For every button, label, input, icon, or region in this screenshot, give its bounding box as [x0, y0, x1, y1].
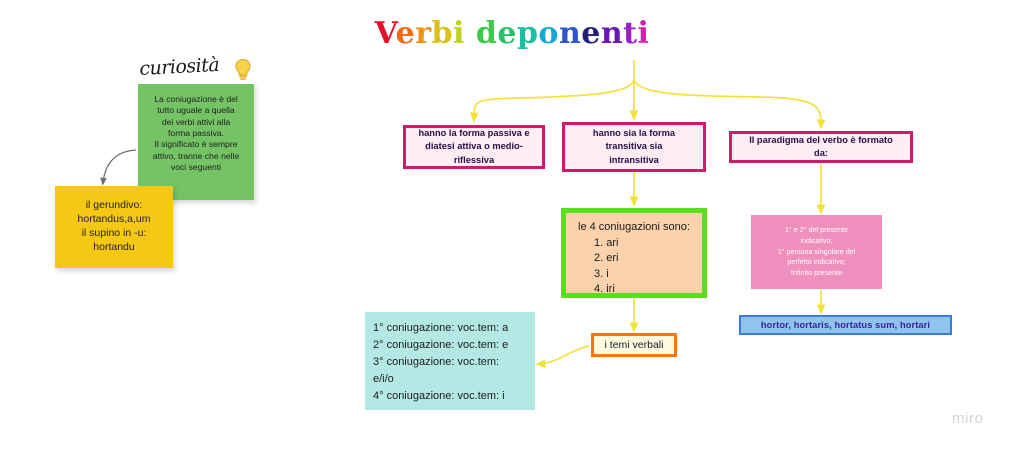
- page-title: Verbi deponenti: [0, 16, 1024, 51]
- paradigma-detail-line: perfetto indicativo;: [756, 257, 877, 268]
- coniugazioni-item: 3. i: [578, 267, 698, 283]
- title-letter: n: [559, 16, 581, 51]
- box-transitiva-line: hanno sia la forma: [593, 127, 675, 140]
- title-letter: b: [432, 16, 453, 51]
- note-green-line: attivo, tranne che nelle: [147, 151, 245, 162]
- vocali-line: 1° coniugazione: voc.tem: a: [373, 320, 529, 337]
- hortor-text: hortor, hortaris, hortatus sum, hortari: [761, 320, 930, 330]
- box-paradigma-detail[interactable]: 1° e 2° del presente indicativo; 1° pers…: [751, 215, 882, 289]
- connector-temi-to-vocali: [540, 346, 589, 364]
- note-green-line: forma passiva.: [147, 128, 245, 139]
- box-paradigma-line: da:: [749, 147, 893, 160]
- note-yellow-line: il gerundivo:: [64, 199, 164, 213]
- title-letter: e: [396, 16, 416, 51]
- coniugazioni-item: 2. eri: [578, 251, 698, 267]
- lightbulb-icon: [232, 58, 254, 82]
- note-green-line: dei verbi attivi alla: [147, 117, 245, 128]
- title-letter: V: [375, 16, 396, 51]
- sticky-note-yellow[interactable]: il gerundivo: hortandus,a,um il supino i…: [55, 186, 173, 268]
- box-passiva-line: diatesi attiva o medio-: [418, 140, 529, 153]
- connector-root-to-paradigma: [634, 80, 821, 125]
- box-forma-transitiva[interactable]: hanno sia la forma transitiva sia intran…: [562, 122, 706, 172]
- box-paradigma[interactable]: Il paradigma del verbo è formato da:: [729, 131, 913, 163]
- note-yellow-line: il supino in -u:: [64, 227, 164, 241]
- box-passiva-line: hanno la forma passiva e: [418, 127, 529, 140]
- box-hortor-paradigm[interactable]: hortor, hortaris, hortatus sum, hortari: [739, 315, 952, 335]
- box-paradigma-line: Il paradigma del verbo è formato: [749, 134, 893, 147]
- coniugazioni-heading: le 4 coniugazioni sono:: [578, 220, 698, 236]
- title-letter: e: [581, 16, 601, 51]
- title-letter: p: [517, 16, 538, 51]
- title-letter: o: [538, 16, 559, 51]
- curiosita-heading: curiosità: [139, 54, 220, 80]
- note-green-line: Il significato è sempre: [147, 139, 245, 150]
- paradigma-detail-line: indicativo;: [756, 236, 877, 247]
- coniugazioni-item: 1. ari: [578, 236, 698, 252]
- title-letter: r: [415, 16, 431, 51]
- title-letter: i: [638, 16, 650, 51]
- vocali-line: e/i/o: [373, 371, 529, 388]
- note-green-line: tutto uguale a quella: [147, 105, 245, 116]
- note-green-line: La coniugazione è del: [147, 94, 245, 105]
- title-letter: e: [497, 16, 517, 51]
- box-le-4-coniugazioni[interactable]: le 4 coniugazioni sono: 1. ari 2. eri 3.…: [561, 208, 707, 298]
- box-temi-verbali[interactable]: i temi verbali: [591, 333, 677, 357]
- title-letter: n: [601, 16, 623, 51]
- coniugazioni-item: 4. iri: [578, 282, 698, 298]
- title-letter: [465, 16, 476, 51]
- box-transitiva-line: transitiva sia: [593, 140, 675, 153]
- note-yellow-line: hortandu: [64, 241, 164, 255]
- connector-green-note-to-yellow-note: [103, 150, 136, 182]
- vocali-line: 2° coniugazione: voc.tem: e: [373, 337, 529, 354]
- box-forma-passiva[interactable]: hanno la forma passiva e diatesi attiva …: [403, 125, 545, 169]
- sticky-note-green[interactable]: La coniugazione è del tutto uguale a que…: [138, 84, 254, 200]
- title-letter: t: [623, 16, 637, 51]
- box-transitiva-line: intransitiva: [593, 154, 675, 167]
- paradigma-detail-line: 1° persona singolare del: [756, 247, 877, 258]
- miro-watermark: miro: [952, 410, 984, 427]
- note-yellow-line: hortandus,a,um: [64, 213, 164, 227]
- title-letter: i: [453, 16, 465, 51]
- box-vocali-tematiche[interactable]: 1° coniugazione: voc.tem: a 2° coniugazi…: [365, 312, 535, 410]
- title-letter: d: [476, 16, 497, 51]
- connector-root-to-passiva: [474, 80, 634, 118]
- vocali-line: 4° coniugazione: voc.tem: i: [373, 388, 529, 405]
- paradigma-detail-line: 1° e 2° del presente: [756, 225, 877, 236]
- paradigma-detail-line: Infinito presente: [756, 268, 877, 279]
- temi-text: i temi verbali: [605, 339, 664, 351]
- note-green-line: voci seguenti: [147, 162, 245, 173]
- miro-board-canvas: Verbi deponenti curiosità La coniugazion…: [0, 0, 1024, 452]
- vocali-line: 3° coniugazione: voc.tem:: [373, 354, 529, 371]
- box-passiva-line: riflessiva: [418, 154, 529, 167]
